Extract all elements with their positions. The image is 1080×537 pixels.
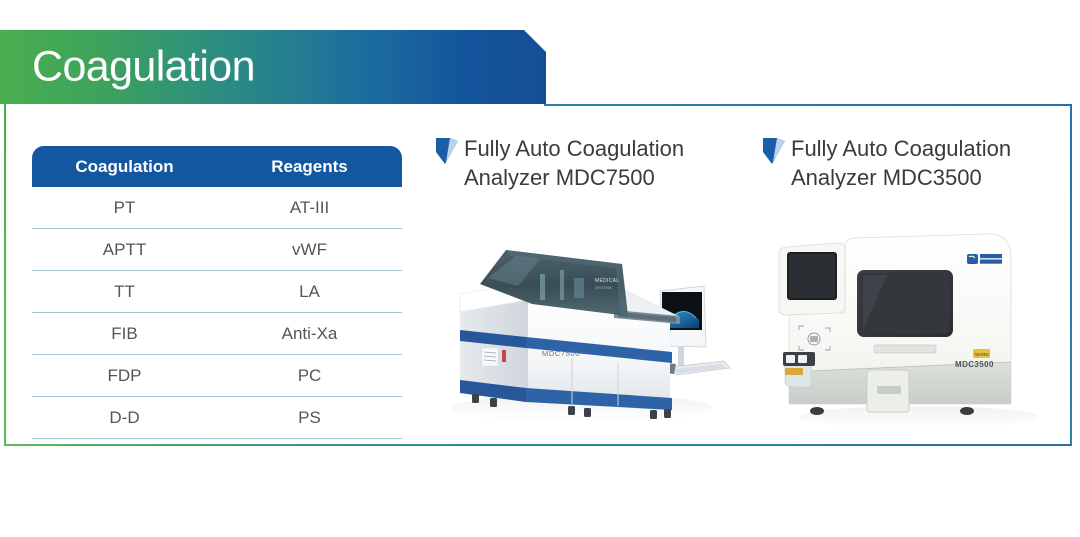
product-title-line2: Analyzer MDC7500 <box>464 165 655 190</box>
cell-reagent: PS <box>217 408 402 428</box>
table-header-row: Coagulation Reagents <box>32 146 402 187</box>
product-photo-mdc3500: WARN MDC3500 <box>759 212 1069 427</box>
svg-text:SYSTEM: SYSTEM <box>595 285 611 290</box>
coagulation-reagent-table: Coagulation Reagents PT AT-III APTT vWF … <box>32 146 402 439</box>
product-title: Fully Auto Coagulation Analyzer MDC3500 <box>791 134 1069 192</box>
frame-border-top <box>544 104 1072 106</box>
cell-coagulation: FIB <box>32 324 217 344</box>
product-title-line1: Fully Auto Coagulation <box>464 136 684 161</box>
product-card-mdc3500: Fully Auto Coagulation Analyzer MDC3500 <box>759 134 1069 427</box>
table-row: FIB Anti-Xa <box>32 313 402 355</box>
product-title: Fully Auto Coagulation Analyzer MDC7500 <box>464 134 742 192</box>
table-row: APTT vWF <box>32 229 402 271</box>
cell-reagent: LA <box>217 282 402 302</box>
cell-reagent: vWF <box>217 240 402 260</box>
frame-border-left <box>4 104 6 446</box>
frame-border-right <box>1070 104 1072 446</box>
blue-flag-bullet-icon <box>436 138 458 166</box>
cell-coagulation: TT <box>32 282 217 302</box>
product-title-line2: Analyzer MDC3500 <box>791 165 982 190</box>
product-photo-mdc7500: MEDICAL SYSTEM MDC7500 <box>432 212 742 427</box>
cell-coagulation: FDP <box>32 366 217 386</box>
cell-reagent: Anti-Xa <box>217 324 402 344</box>
cell-coagulation: PT <box>32 198 217 218</box>
table-row: D-D PS <box>32 397 402 439</box>
table-row: FDP PC <box>32 355 402 397</box>
header-banner: Coagulation <box>0 30 546 104</box>
page-title: Coagulation <box>32 46 255 89</box>
product-title-wrap: Fully Auto Coagulation Analyzer MDC7500 <box>432 134 742 194</box>
product-title-line1: Fully Auto Coagulation <box>791 136 1011 161</box>
svg-text:MEDICAL: MEDICAL <box>595 278 619 284</box>
table-row: TT LA <box>32 271 402 313</box>
content-frame: Coagulation Reagents PT AT-III APTT vWF … <box>4 104 1072 446</box>
slide-canvas: Coagulation Coagulation Reagents PT AT-I… <box>0 0 1080 537</box>
cell-coagulation: APTT <box>32 240 217 260</box>
cell-reagent: AT-III <box>217 198 402 218</box>
column-header-reagents: Reagents <box>217 157 402 177</box>
blue-flag-bullet-icon <box>763 138 785 166</box>
svg-text:WARN: WARN <box>975 352 989 357</box>
product-card-mdc7500: Fully Auto Coagulation Analyzer MDC7500 <box>432 134 742 427</box>
table-row: PT AT-III <box>32 187 402 229</box>
machine-model-text: MDC3500 <box>955 360 994 369</box>
frame-border-bottom <box>4 444 1072 446</box>
cell-coagulation: D-D <box>32 408 217 428</box>
cell-reagent: PC <box>217 366 402 386</box>
column-header-coagulation: Coagulation <box>32 157 217 177</box>
product-title-wrap: Fully Auto Coagulation Analyzer MDC3500 <box>759 134 1069 194</box>
machine-model-text: MDC7500 <box>542 349 580 358</box>
